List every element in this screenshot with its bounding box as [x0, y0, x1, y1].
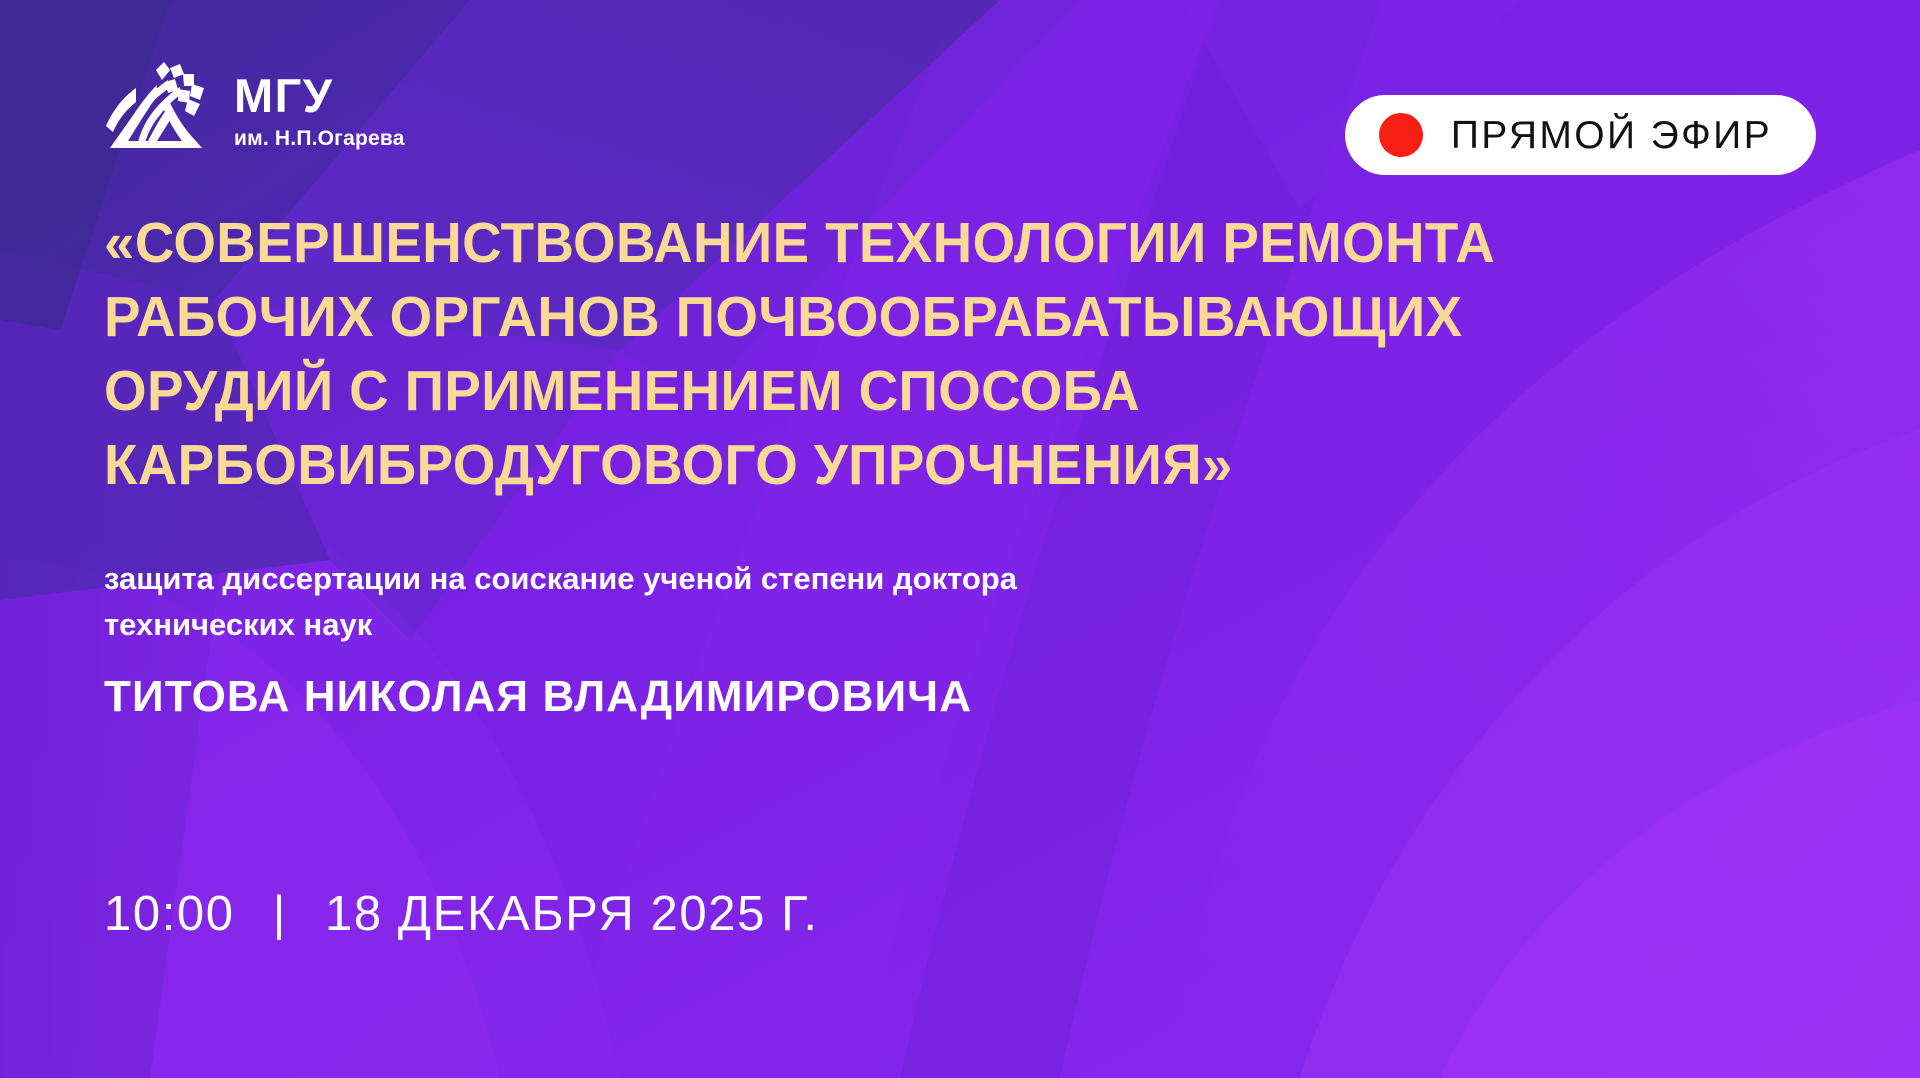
brand-text-block: МГУ им. Н.П.Огарева — [234, 68, 405, 149]
event-date: 18 ДЕКАБРЯ 2025 Г. — [325, 890, 819, 939]
announcement-subtitle: защита диссертации на соискание ученой с… — [104, 556, 1204, 647]
event-time: 10:00 — [104, 890, 235, 939]
brand-name: МГУ — [234, 72, 405, 119]
subtitle-line: защита диссертации на соискание ученой с… — [104, 556, 1204, 601]
live-record-dot-icon — [1379, 113, 1423, 157]
announcement-title: «СОВЕРШЕНСТВОВАНИЕ ТЕХНОЛОГИИ РЕМОНТА РА… — [104, 206, 1525, 502]
live-badge-label: ПРЯМОЙ ЭФИР — [1451, 116, 1772, 155]
event-datetime: 10:00 | 18 ДЕКАБРЯ 2025 Г. — [104, 890, 819, 939]
datetime-separator: | — [273, 890, 287, 939]
subtitle-line: технических наук — [104, 602, 1204, 647]
candidate-name: ТИТОВА НИКОЛАЯ ВЛАДИМИРОВИЧА — [104, 673, 1584, 721]
title-line: ОРУДИЙ С ПРИМЕНЕНИЕМ СПОСОБА — [104, 354, 1525, 428]
announcement-content: «СОВЕРШЕНСТВОВАНИЕ ТЕХНОЛОГИИ РЕМОНТА РА… — [104, 206, 1584, 721]
announcement-poster: МГУ им. Н.П.Огарева ПРЯМОЙ ЭФИР «СОВЕРШЕ… — [0, 0, 1920, 1078]
brand-subname: им. Н.П.Огарева — [234, 128, 405, 149]
university-brand: МГУ им. Н.П.Огарева — [104, 62, 405, 154]
title-line: РАБОЧИХ ОРГАНОВ ПОЧВООБРАБАТЫВАЮЩИХ — [104, 280, 1525, 354]
live-broadcast-badge: ПРЯМОЙ ЭФИР — [1345, 95, 1816, 175]
title-line: «СОВЕРШЕНСТВОВАНИЕ ТЕХНОЛОГИИ РЕМОНТА — [104, 206, 1525, 280]
poster-header: МГУ им. Н.П.Огарева ПРЯМОЙ ЭФИР — [0, 0, 1920, 200]
mgu-emblem-icon — [104, 62, 208, 154]
title-line: КАРБОВИБРОДУГОВОГО УПРОЧНЕНИЯ» — [104, 428, 1525, 502]
